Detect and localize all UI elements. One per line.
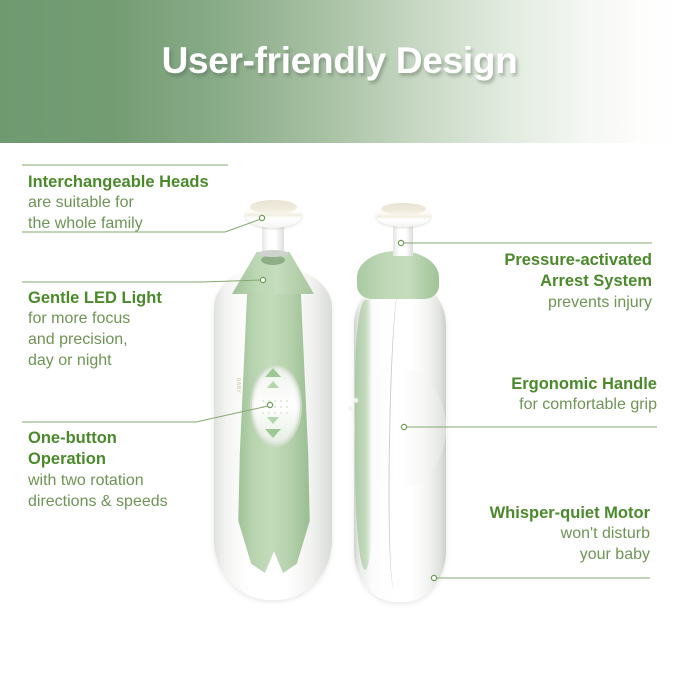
product-side-highlight <box>346 390 360 416</box>
callout-line: the whole family <box>28 214 264 235</box>
product-side-neck <box>393 223 413 256</box>
page-title: User-friendly Design <box>0 40 679 82</box>
callout-whisper-quiet-motor: Whisper-quiet Motor won't disturb your b… <box>420 503 650 566</box>
infographic-canvas: User-friendly Design BABY <box>0 0 679 679</box>
chevron-up-icon <box>265 368 281 377</box>
product-side-green-strip <box>355 300 372 570</box>
chevron-down-icon <box>265 429 281 438</box>
product-side-shoulder <box>357 251 439 299</box>
callout-one-button-operation: One-button Operation with two rotation d… <box>28 428 248 512</box>
callout-line: your baby <box>420 545 650 566</box>
callout-gentle-led-light: Gentle LED Light for more focus and prec… <box>28 288 248 372</box>
button-texture <box>260 398 288 414</box>
callout-heading: One-button <box>28 428 248 449</box>
callout-heading: Interchangeable Heads <box>28 172 264 193</box>
callout-line: for comfortable grip <box>430 395 657 416</box>
callout-heading: Arrest System <box>430 271 652 292</box>
callout-pressure-activated-arrest-system: Pressure-activated Arrest System prevent… <box>430 250 652 314</box>
product-side-print: BABY <box>229 378 241 424</box>
callout-heading: Gentle LED Light <box>28 288 248 309</box>
callout-line: directions & speeds <box>28 492 248 513</box>
callout-line: with two rotation <box>28 471 248 492</box>
chevron-up-small-icon <box>267 381 279 388</box>
callout-ergonomic-handle: Ergonomic Handle for comfortable grip <box>430 374 657 416</box>
callout-line: won't disturb <box>420 524 650 545</box>
callout-heading: Ergonomic Handle <box>430 374 657 395</box>
product-side-cap-disc <box>381 203 426 215</box>
callout-line: are suitable for <box>28 193 264 214</box>
callout-heading: Operation <box>28 449 248 470</box>
callout-line: prevents injury <box>430 293 652 314</box>
callout-line: and precision, <box>28 330 248 351</box>
callout-line: for more focus <box>28 309 248 330</box>
callout-line: day or night <box>28 351 248 372</box>
callout-heading: Pressure-activated <box>430 250 652 271</box>
product-front-neck-ring <box>258 250 288 257</box>
chevron-down-small-icon <box>267 417 279 424</box>
callout-interchangeable-heads: Interchangeable Heads are suitable for t… <box>28 172 264 235</box>
callout-heading: Whisper-quiet Motor <box>420 503 650 524</box>
